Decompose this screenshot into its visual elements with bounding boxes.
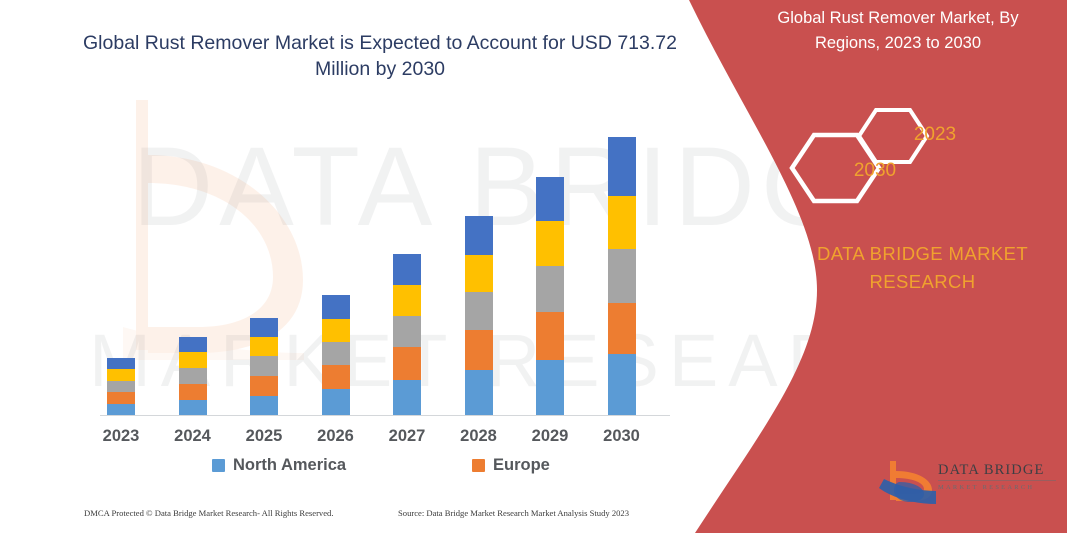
bar-segment[interactable]	[608, 249, 636, 303]
bar-segment[interactable]	[250, 356, 278, 376]
bar-segment[interactable]	[322, 295, 350, 319]
bar-segment[interactable]	[179, 368, 207, 384]
bar-segment[interactable]	[107, 392, 135, 404]
bar-2030[interactable]	[608, 137, 636, 416]
bar-segment[interactable]	[107, 381, 135, 392]
bar-segment[interactable]	[179, 400, 207, 416]
bar-segment[interactable]	[250, 376, 278, 396]
bar-segment[interactable]	[322, 365, 350, 389]
x-axis-label-2025: 2025	[234, 427, 294, 446]
chart-legend: North AmericaEurope	[100, 456, 675, 480]
bar-2024[interactable]	[179, 337, 207, 416]
bar-segment[interactable]	[179, 384, 207, 400]
bar-segment[interactable]	[250, 318, 278, 337]
data-bridge-logo-text: DATA BRIDGE MARKET RESEARCH	[938, 462, 1056, 491]
bar-segment[interactable]	[322, 319, 350, 342]
bar-segment[interactable]	[179, 352, 207, 368]
bar-segment[interactable]	[536, 360, 564, 416]
brand-line1: DATA BRIDGE MARKET	[817, 243, 1028, 264]
legend-item-europe[interactable]: Europe	[472, 456, 550, 475]
panel-title: Global Rust Remover Market, By Regions, …	[753, 6, 1043, 56]
hexagon-2023-label: 2023	[900, 124, 970, 146]
bar-2023[interactable]	[107, 358, 135, 416]
bar-segment[interactable]	[393, 285, 421, 316]
infographic-canvas: DATA BRIDGE MARKET RESEARCH Global Rust …	[0, 0, 1067, 533]
legend-label: Europe	[493, 456, 550, 475]
bar-segment[interactable]	[465, 330, 493, 370]
bar-segment[interactable]	[393, 347, 421, 380]
bar-segment[interactable]	[322, 342, 350, 365]
bar-segment[interactable]	[608, 354, 636, 416]
bar-segment[interactable]	[250, 396, 278, 416]
footer-copyright: DMCA Protected © Data Bridge Market Rese…	[84, 508, 334, 518]
brand-line2: RESEARCH	[870, 271, 976, 292]
x-axis-label-2028: 2028	[449, 427, 509, 446]
x-axis-label-2030: 2030	[592, 427, 652, 446]
bar-segment[interactable]	[465, 255, 493, 292]
chart-title: Global Rust Remover Market is Expected t…	[80, 30, 680, 83]
bar-2027[interactable]	[393, 254, 421, 416]
footer-source: Source: Data Bridge Market Research Mark…	[398, 508, 629, 518]
x-axis-label-2027: 2027	[377, 427, 437, 446]
legend-swatch	[212, 459, 225, 472]
bar-segment[interactable]	[393, 254, 421, 285]
bar-segment[interactable]	[608, 196, 636, 249]
x-axis-line	[100, 415, 670, 416]
x-axis-label-2029: 2029	[520, 427, 580, 446]
bar-segment[interactable]	[608, 303, 636, 354]
bar-segment[interactable]	[608, 137, 636, 196]
footer: DMCA Protected © Data Bridge Market Rese…	[0, 508, 700, 528]
x-axis-label-2023: 2023	[91, 427, 151, 446]
bar-2026[interactable]	[322, 295, 350, 416]
hexagon-2030-label: 2030	[838, 160, 912, 182]
bar-segment[interactable]	[250, 337, 278, 356]
bar-segment[interactable]	[465, 370, 493, 416]
bar-segment[interactable]	[393, 380, 421, 416]
x-axis-label-2026: 2026	[306, 427, 366, 446]
x-axis-labels: 20232024202520262027202820292030	[100, 427, 675, 449]
hexagon-badges	[667, 88, 1067, 223]
bar-2028[interactable]	[465, 216, 493, 416]
bar-segment[interactable]	[107, 369, 135, 381]
bar-segment[interactable]	[322, 389, 350, 416]
bar-segment[interactable]	[107, 358, 135, 369]
bar-segment[interactable]	[393, 316, 421, 347]
data-bridge-b-logo-icon	[876, 458, 938, 504]
bar-segment[interactable]	[536, 221, 564, 266]
bar-segment[interactable]	[536, 266, 564, 312]
legend-item-north-america[interactable]: North America	[212, 456, 346, 475]
bar-segment[interactable]	[536, 312, 564, 360]
bar-2025[interactable]	[250, 318, 278, 416]
x-axis-label-2024: 2024	[163, 427, 223, 446]
brand-text: DATA BRIDGE MARKET RESEARCH	[790, 240, 1055, 296]
bar-segment[interactable]	[179, 337, 207, 352]
legend-swatch	[472, 459, 485, 472]
logo-tagline: MARKET RESEARCH	[938, 484, 1056, 491]
legend-label: North America	[233, 456, 346, 475]
logo-name: DATA BRIDGE	[938, 462, 1056, 479]
bar-segment[interactable]	[465, 292, 493, 330]
bar-segment[interactable]	[465, 216, 493, 255]
bar-segment[interactable]	[536, 177, 564, 221]
bar-chart-plot-area	[100, 110, 685, 416]
data-bridge-logo: DATA BRIDGE MARKET RESEARCH	[876, 458, 1056, 504]
logo-divider	[938, 480, 1056, 481]
bar-2029[interactable]	[536, 177, 564, 416]
